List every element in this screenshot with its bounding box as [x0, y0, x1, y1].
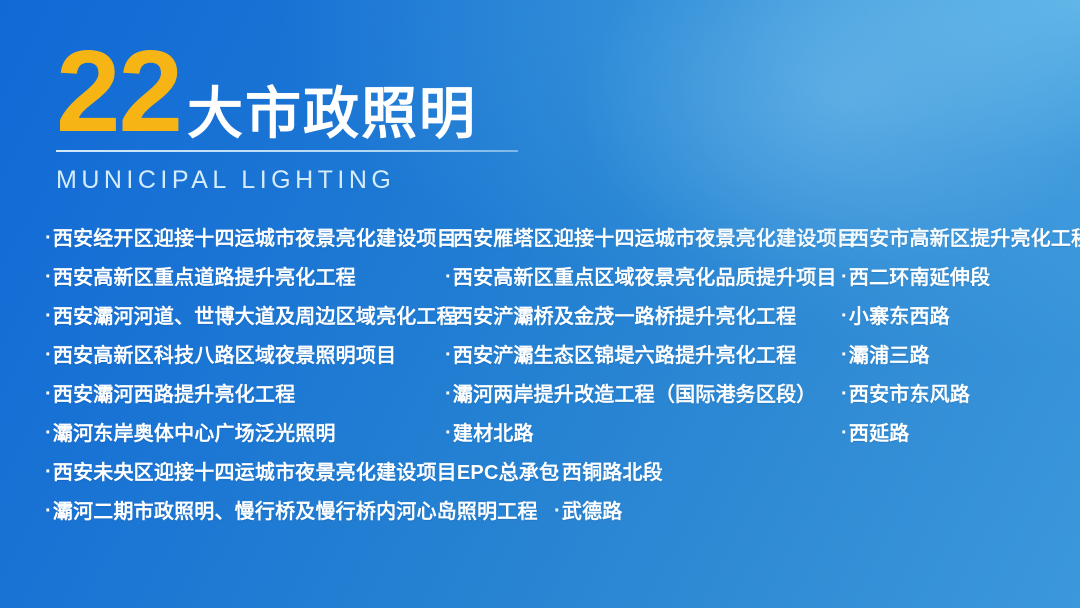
list-item-label: 建材北路 — [453, 417, 534, 446]
list-item-label: 西安经开区迎接十四运城市夜景亮化建设项目 — [53, 222, 457, 251]
project-column-2: · 西安雁塔区迎接十四运城市夜景亮化建设项目 · 西安高新区重点区域夜景亮化品质… — [445, 222, 857, 456]
bullet-icon: · — [445, 383, 452, 406]
slide-root: 22 大市政照明 MUNICIPAL LIGHTING · 西安经开区迎接十四运… — [0, 0, 1080, 608]
list-item-label: 西安高新区重点区域夜景亮化品质提升项目 — [453, 261, 837, 290]
list-item-label: 西安浐灞生态区锦堤六路提升亮化工程 — [453, 339, 796, 368]
list-item: · 西安未央区迎接十四运城市夜景亮化建设项目EPC总承包 — [45, 456, 559, 495]
bullet-icon: · — [841, 227, 848, 250]
list-item: · 武德路 — [554, 495, 663, 534]
list-item: · 灞河两岸提升改造工程（国际港务区段） — [445, 378, 857, 417]
list-item: · 西安高新区重点区域夜景亮化品质提升项目 — [445, 261, 857, 300]
bullet-icon: · — [841, 305, 848, 328]
list-item-label: 西安灞河西路提升亮化工程 — [53, 378, 295, 407]
list-item-label: 西安雁塔区迎接十四运城市夜景亮化建设项目 — [453, 222, 857, 251]
list-item-label: 西安浐灞桥及金茂一路桥提升亮化工程 — [453, 300, 796, 329]
list-item: · 西二环南延伸段 — [841, 261, 1080, 300]
list-item: · 建材北路 — [445, 417, 857, 456]
bullet-icon: · — [45, 500, 52, 523]
list-item-label: 灞浦三路 — [849, 339, 930, 368]
list-item-label: 西安市高新区提升亮化工程 — [849, 222, 1080, 251]
list-item-label: 武德路 — [562, 495, 623, 524]
list-item-label: 灞河东岸奥体中心广场泛光照明 — [53, 417, 336, 446]
subtitle-english: MUNICIPAL LIGHTING — [56, 166, 616, 195]
slide-header: 22 大市政照明 MUNICIPAL LIGHTING — [56, 36, 616, 195]
list-item-label: 西延路 — [849, 417, 910, 446]
project-column-4: · 西铜路北段 · 武德路 — [554, 456, 663, 534]
page-title: 大市政照明 — [187, 86, 477, 146]
list-item-label: 西安高新区重点道路提升亮化工程 — [53, 261, 356, 290]
bullet-icon: · — [45, 422, 52, 445]
bullet-icon: · — [45, 266, 52, 289]
bullet-icon: · — [45, 344, 52, 367]
bullet-icon: · — [445, 422, 452, 445]
list-item-label: 西铜路北段 — [562, 456, 663, 485]
bullet-icon: · — [45, 461, 52, 484]
section-number: 22 — [56, 37, 181, 146]
bullet-icon: · — [554, 461, 561, 484]
bullet-icon: · — [445, 305, 452, 328]
list-item-label: 西安灞河河道、世博大道及周边区域亮化工程 — [53, 300, 457, 329]
bullet-icon: · — [445, 344, 452, 367]
bullet-icon: · — [841, 266, 848, 289]
list-item: · 西安浐灞生态区锦堤六路提升亮化工程 — [445, 339, 857, 378]
list-item-label: 西安未央区迎接十四运城市夜景亮化建设项目EPC总承包 — [53, 456, 559, 485]
bullet-icon: · — [554, 500, 561, 523]
list-item-label: 西二环南延伸段 — [849, 261, 990, 290]
bullet-icon: · — [45, 227, 52, 250]
list-item: · 西安浐灞桥及金茂一路桥提升亮化工程 — [445, 300, 857, 339]
bullet-icon: · — [841, 383, 848, 406]
project-column-3: · 西安市高新区提升亮化工程 · 西二环南延伸段 · 小寨东西路 · 灞浦三路 … — [841, 222, 1080, 456]
bullet-icon: · — [45, 305, 52, 328]
list-item-label: 小寨东西路 — [849, 300, 950, 329]
list-item: · 西延路 — [841, 417, 1080, 456]
list-item: · 小寨东西路 — [841, 300, 1080, 339]
list-item: · 西安市东风路 — [841, 378, 1080, 417]
list-item-label: 西安市东风路 — [849, 378, 970, 407]
list-item-label: 灞河两岸提升改造工程（国际港务区段） — [453, 378, 817, 407]
list-item: · 灞浦三路 — [841, 339, 1080, 378]
list-item: · 西安市高新区提升亮化工程 — [841, 222, 1080, 261]
bullet-icon: · — [445, 227, 452, 250]
list-item-label: 灞河二期市政照明、慢行桥及慢行桥内河心岛照明工程 — [53, 495, 538, 524]
list-item: · 灞河二期市政照明、慢行桥及慢行桥内河心岛照明工程 — [45, 495, 559, 534]
title-row: 22 大市政照明 — [56, 36, 616, 146]
bullet-icon: · — [45, 383, 52, 406]
bullet-icon: · — [445, 266, 452, 289]
list-item: · 西铜路北段 — [554, 456, 663, 495]
list-item-label: 西安高新区科技八路区域夜景照明项目 — [53, 339, 396, 368]
list-item: · 西安雁塔区迎接十四运城市夜景亮化建设项目 — [445, 222, 857, 261]
bullet-icon: · — [841, 422, 848, 445]
bullet-icon: · — [841, 344, 848, 367]
